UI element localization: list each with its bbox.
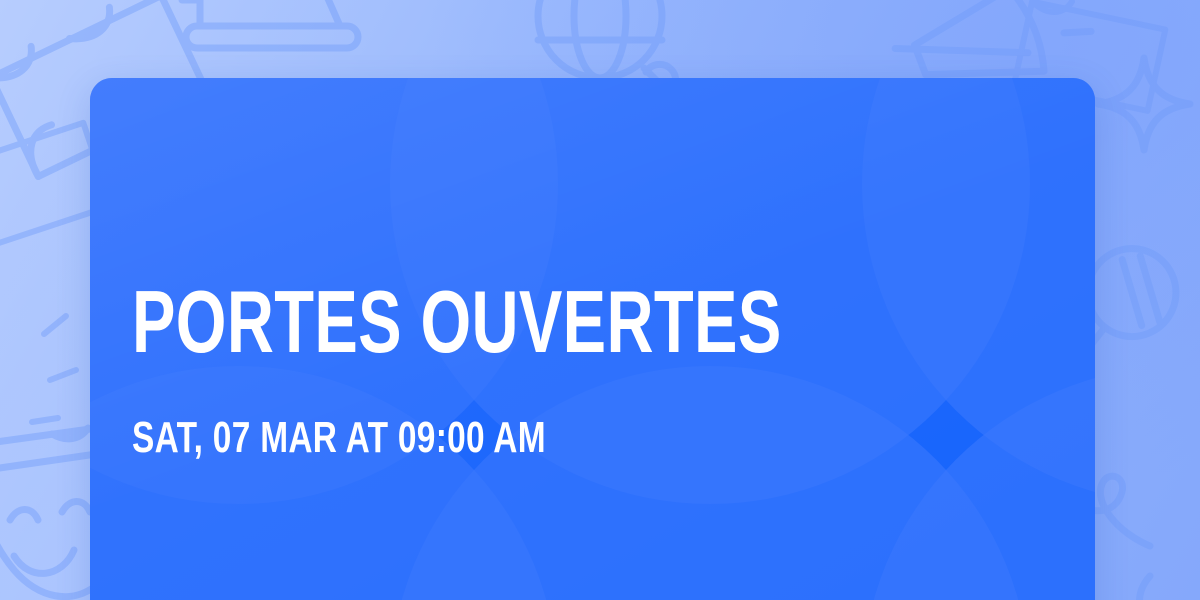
event-title: PORTES OUVERTES [132, 276, 782, 368]
projector-icon [182, 0, 358, 48]
confetti-icon [32, 316, 76, 422]
event-poster: PORTES OUVERTES SAT, 07 MAR AT 09:00 AM [0, 0, 1200, 600]
event-card[interactable]: PORTES OUVERTES SAT, 07 MAR AT 09:00 AM [90, 78, 1095, 600]
card-content: PORTES OUVERTES SAT, 07 MAR AT 09:00 AM [132, 78, 1053, 600]
event-date-time: SAT, 07 MAR AT 09:00 AM [132, 414, 546, 462]
